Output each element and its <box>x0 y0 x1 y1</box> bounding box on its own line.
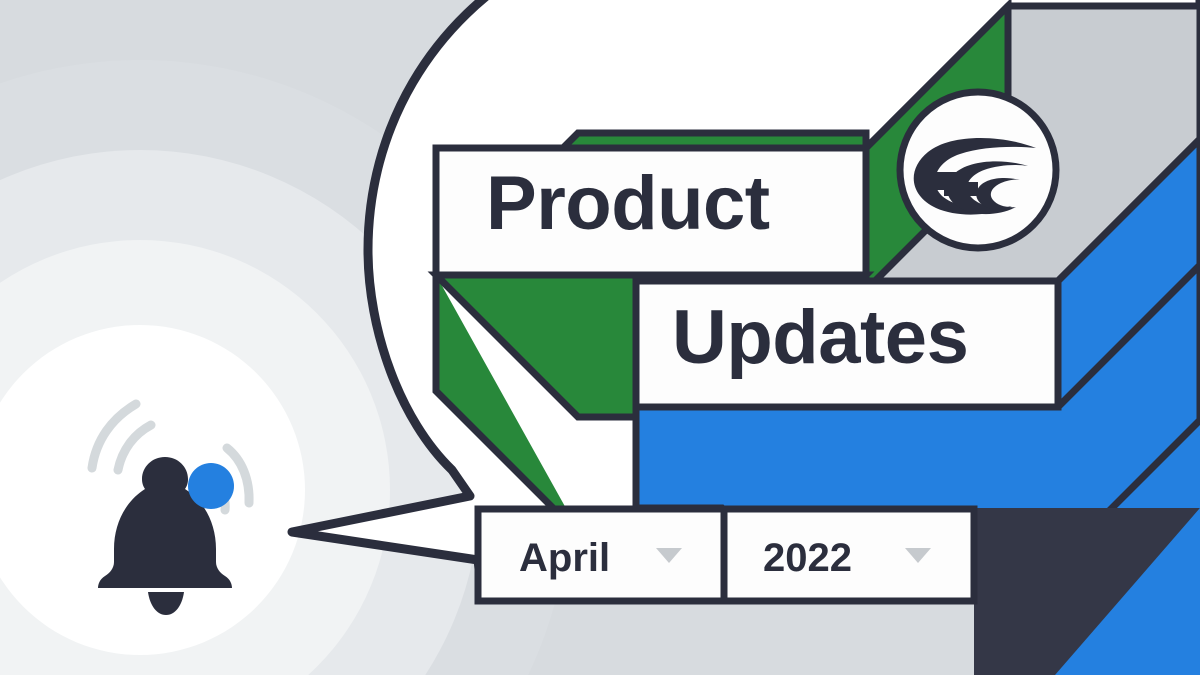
cloudera-circle-logo <box>900 92 1056 248</box>
headline-product: Product <box>486 166 770 242</box>
year-dropdown-value[interactable]: 2022 <box>763 538 852 578</box>
notification-dot <box>188 463 234 509</box>
chevron-down-icon-month[interactable] <box>656 548 682 563</box>
headline-updates: Updates <box>672 300 968 376</box>
logo-bar-2 <box>944 182 978 196</box>
banner-graphic: Product Updates April 2022 <box>0 0 1200 675</box>
chevron-down-icon-year[interactable] <box>905 548 931 563</box>
month-dropdown-value[interactable]: April <box>519 538 610 578</box>
